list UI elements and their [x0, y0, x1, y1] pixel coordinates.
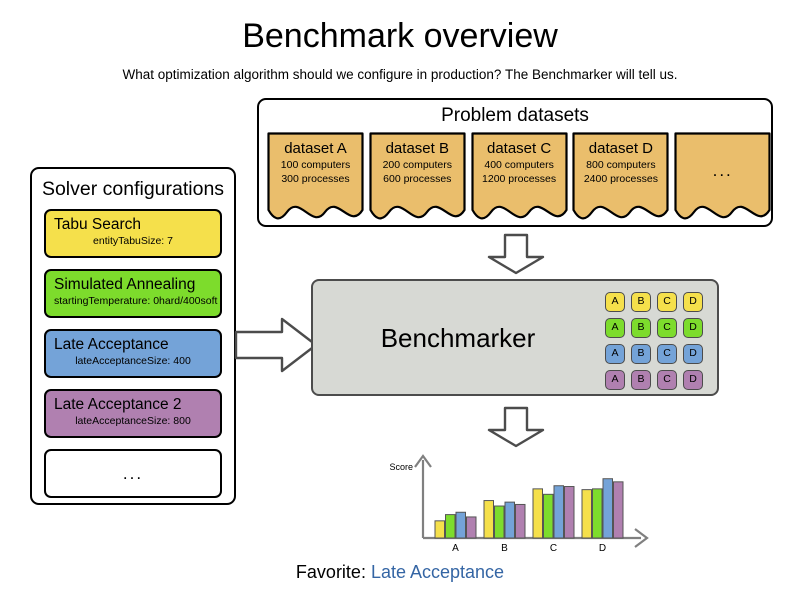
matrix-cell: D [683, 370, 703, 390]
problem-datasets-title: Problem datasets [259, 104, 771, 128]
svg-text:C: C [550, 543, 557, 554]
matrix-cell: A [605, 318, 625, 338]
solver-param: lateAcceptanceSize: 800 [54, 414, 212, 428]
dataset-processes: 2400 processes [572, 172, 669, 186]
page-title: Benchmark overview [0, 16, 800, 56]
solver-name: Late Acceptance 2 [54, 395, 212, 414]
arrow-down-icon [487, 406, 545, 448]
dataset-computers: 100 computers [267, 158, 364, 172]
matrix-cell: B [631, 344, 651, 364]
solver-more-ellipsis: ... [123, 469, 143, 479]
benchmarker-box[interactable]: Benchmarker A B C D A B C D A B C D A B … [311, 279, 719, 396]
solver-param: lateAcceptanceSize: 400 [54, 354, 212, 368]
matrix-cell: B [631, 318, 651, 338]
matrix-cell: C [657, 292, 677, 312]
dataset-more-ellipsis: ... [674, 166, 771, 176]
dataset-card-a[interactable]: dataset A 100 computers 300 processes [267, 132, 360, 224]
solver-param: entityTabuSize: 7 [54, 234, 212, 248]
favorite-prefix: Favorite: [296, 562, 371, 582]
favorite-result: Favorite: Late Acceptance [0, 560, 800, 584]
solver-configurations-title: Solver configurations [32, 177, 234, 201]
solver-name: Tabu Search [54, 215, 212, 234]
arrow-right-icon [234, 316, 318, 374]
matrix-cell: C [657, 344, 677, 364]
problem-datasets-panel: Problem datasets dataset A 100 computers… [257, 98, 773, 227]
dataset-card-c[interactable]: dataset C 400 computers 1200 processes [471, 132, 564, 224]
svg-text:Score: Score [389, 462, 413, 472]
matrix-cell: A [605, 370, 625, 390]
matrix-cell: D [683, 292, 703, 312]
solver-card-simulated-annealing[interactable]: Simulated Annealing startingTemperature:… [44, 269, 222, 318]
page-subtitle: What optimization algorithm should we co… [0, 66, 800, 84]
svg-text:A: A [452, 543, 459, 554]
matrix-cell: A [605, 344, 625, 364]
benchmark-result-chart: ScoreABCD [375, 450, 655, 558]
solver-configurations-panel: Solver configurations Tabu Search entity… [30, 167, 236, 505]
solver-card-tabu-search[interactable]: Tabu Search entityTabuSize: 7 [44, 209, 222, 258]
matrix-cell: C [657, 318, 677, 338]
solver-card-more[interactable]: ... [44, 449, 222, 498]
dataset-processes: 300 processes [267, 172, 364, 186]
svg-text:B: B [501, 543, 508, 554]
matrix-cell: B [631, 292, 651, 312]
matrix-cell: D [683, 344, 703, 364]
benchmarker-label: Benchmarker [313, 321, 603, 355]
chart-canvas: ScoreABCD [375, 450, 655, 558]
solver-name: Late Acceptance [54, 335, 212, 354]
matrix-cell: D [683, 318, 703, 338]
dataset-name: dataset D [572, 139, 669, 158]
arrow-down-icon [487, 233, 545, 275]
problem-datasets-list: dataset A 100 computers 300 processes da… [267, 132, 767, 224]
matrix-cell: A [605, 292, 625, 312]
dataset-computers: 400 computers [471, 158, 568, 172]
dataset-card-d[interactable]: dataset D 800 computers 2400 processes [572, 132, 665, 224]
matrix-cell: C [657, 370, 677, 390]
dataset-name: dataset B [369, 139, 466, 158]
solver-param: startingTemperature: 0hard/400soft [54, 294, 212, 308]
dataset-computers: 200 computers [369, 158, 466, 172]
solver-card-late-acceptance-2[interactable]: Late Acceptance 2 lateAcceptanceSize: 80… [44, 389, 222, 438]
dataset-processes: 600 processes [369, 172, 466, 186]
dataset-card-more[interactable]: ... [674, 132, 767, 224]
solver-card-late-acceptance[interactable]: Late Acceptance lateAcceptanceSize: 400 [44, 329, 222, 378]
favorite-winner-link[interactable]: Late Acceptance [371, 562, 504, 582]
solver-configurations-list: Tabu Search entityTabuSize: 7 Simulated … [44, 209, 222, 498]
dataset-name: dataset A [267, 139, 364, 158]
svg-text:D: D [599, 543, 606, 554]
dataset-card-b[interactable]: dataset B 200 computers 600 processes [369, 132, 462, 224]
dataset-computers: 800 computers [572, 158, 669, 172]
dataset-processes: 1200 processes [471, 172, 568, 186]
benchmark-matrix: A B C D A B C D A B C D A B C D [605, 292, 703, 390]
dataset-name: dataset C [471, 139, 568, 158]
solver-name: Simulated Annealing [54, 275, 212, 294]
matrix-cell: B [631, 370, 651, 390]
